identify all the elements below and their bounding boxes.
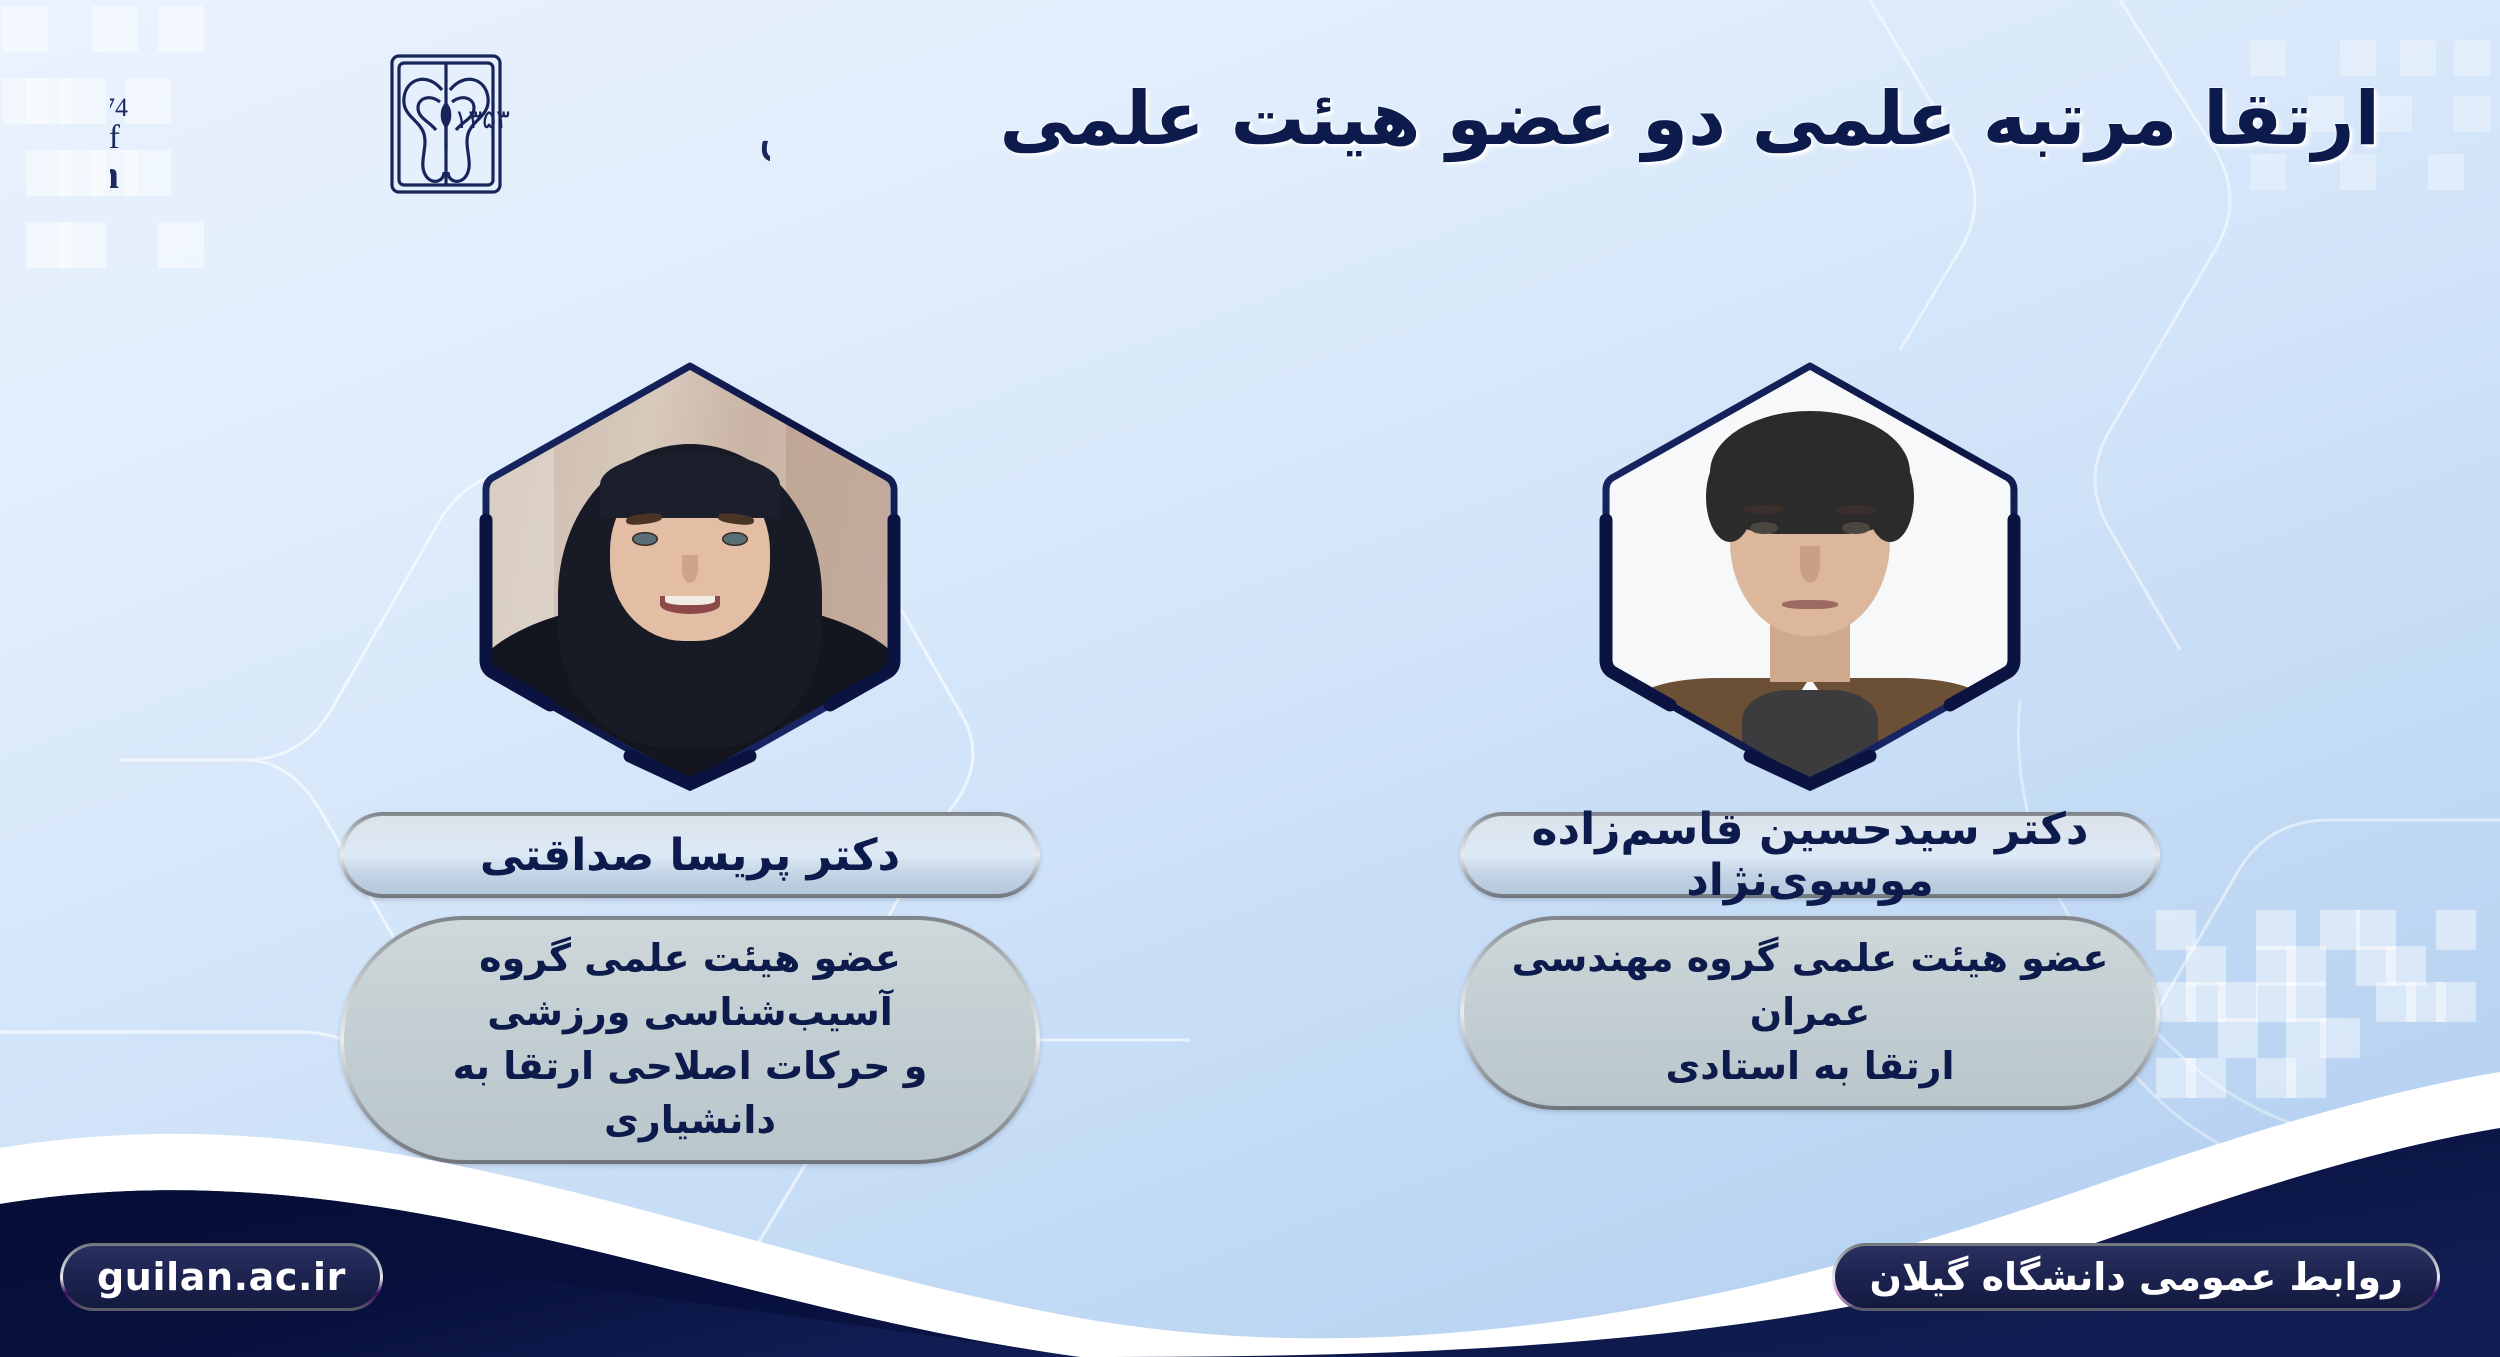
person-role: عضو هیئت علمی گروه مهندسی عمران ارتقا به… <box>1464 920 2156 1106</box>
hex-border-icon <box>1600 360 2020 790</box>
person-role-line: و حرکات اصلاحی ارتقا به دانشیاری <box>370 1040 1010 1148</box>
public-relations-badge: روابط عمومی دانشگاه گیلان <box>1832 1243 2440 1311</box>
person-role-line: ارتقا به استادی <box>1665 1040 1954 1094</box>
logo-name-fa: دانشگاه گیلان <box>758 104 770 167</box>
person-role-pill: عضو هیئت علمی گروه آسیب‌شناسی ورزشی و حر… <box>340 916 1040 1164</box>
public-relations-label: روابط عمومی دانشگاه گیلان <box>1835 1246 2437 1308</box>
person-role: عضو هیئت علمی گروه آسیب‌شناسی ورزشی و حر… <box>344 920 1036 1160</box>
person-card: دکتر پریسا صداقتی عضو هیئت علمی گروه آسی… <box>310 360 1070 1164</box>
person-role-pill: عضو هیئت علمی گروه مهندسی عمران ارتقا به… <box>1460 916 2160 1110</box>
person-name-pill: دکتر سیدحسین قاسم‌زاده موسوی‌نژاد <box>1460 812 2160 898</box>
person-card: دکتر سیدحسین قاسم‌زاده موسوی‌نژاد عضو هی… <box>1430 360 2190 1164</box>
logo-name-en-2: Guilan <box>110 152 126 197</box>
hex-photo-frame <box>1600 360 2020 790</box>
logo-name-en-1: University of <box>110 119 121 156</box>
logo-year-persian: ۱۳۵۳ <box>454 105 510 135</box>
website-url[interactable]: guilan.ac.ir <box>63 1246 380 1308</box>
person-role-line: عضو هیئت علمی گروه آسیب‌شناسی ورزشی <box>370 932 1010 1040</box>
person-name: دکتر سیدحسین قاسم‌زاده موسوی‌نژاد <box>1464 816 2156 894</box>
person-name-pill: دکتر پریسا صداقتی <box>340 812 1040 898</box>
hex-border-icon <box>480 360 900 790</box>
hex-photo-frame <box>480 360 900 790</box>
logo-year-latin: 1974 <box>110 93 128 122</box>
page-title: ارتقا مرتبه علمی دو عضو هیئت علمی <box>960 72 2380 167</box>
website-badge[interactable]: guilan.ac.ir <box>60 1243 383 1311</box>
person-role-line: عضو هیئت علمی گروه مهندسی عمران <box>1490 932 2130 1040</box>
poster-canvas: 1974 University of Guilan ۱۳۵۳ <box>0 0 2500 1357</box>
people-row: دکتر سیدحسین قاسم‌زاده موسوی‌نژاد عضو هی… <box>0 360 2500 1164</box>
person-name: دکتر پریسا صداقتی <box>344 816 1036 894</box>
university-logo: 1974 University of Guilan ۱۳۵۳ <box>110 42 770 202</box>
